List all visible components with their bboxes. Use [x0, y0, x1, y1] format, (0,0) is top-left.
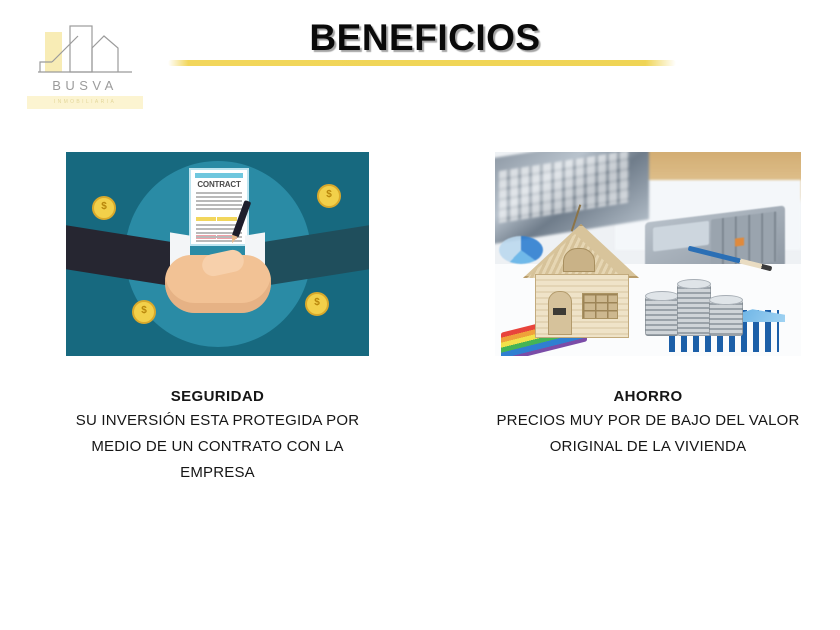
dollar-coin-icon: $	[305, 292, 329, 316]
benefit-description: SU INVERSIÓN ESTA PROTEGIDA POR MEDIO DE…	[66, 408, 369, 486]
benefit-title: SEGURIDAD	[66, 386, 369, 408]
laptop-keyboard	[499, 152, 629, 223]
coin-stack	[677, 284, 711, 336]
page-title: BENEFICIOS	[170, 17, 680, 59]
title-underline-rule	[168, 60, 676, 66]
house-model-coins-photo	[495, 152, 801, 356]
wooden-house-model-icon	[529, 224, 633, 336]
coin-stack	[645, 296, 679, 336]
slide-beneficios: { "brand": { "name": "BUSVA", "tagline":…	[0, 0, 840, 630]
document-title: CONTRACT	[191, 180, 247, 189]
benefit-caption: AHORRO PRECIOS MUY POR DE BAJO DEL VALOR…	[495, 386, 801, 460]
contract-document-icon: CONTRACT	[189, 168, 249, 246]
benefit-card-ahorro: AHORRO PRECIOS MUY POR DE BAJO DEL VALOR…	[495, 152, 801, 460]
calculator-screen	[653, 221, 709, 252]
dollar-coin-icon: $	[132, 300, 156, 324]
house-door	[548, 291, 572, 335]
coin-stacks-icon	[645, 274, 749, 336]
logo-wordmark: BUSVA	[24, 78, 146, 93]
house-body	[535, 274, 629, 338]
brand-logo: BUSVA INMOBILIARIA	[24, 22, 146, 110]
house-attic-window	[563, 248, 595, 272]
logo-tagline: INMOBILIARIA	[24, 96, 146, 109]
coin-stack	[709, 300, 743, 336]
document-text-lines	[196, 192, 242, 212]
building-outline-icon	[38, 22, 132, 78]
house-window	[582, 293, 618, 319]
handshake-contract-illustration: CONTRACT $ $ $ $	[66, 152, 369, 356]
dollar-coin-icon: $	[317, 184, 341, 208]
benefit-card-seguridad: CONTRACT $ $ $ $ SEGURIDAD SU INVERSIÓN …	[66, 152, 369, 486]
dollar-coin-icon: $	[92, 196, 116, 220]
document-header-bar	[195, 173, 243, 178]
desk-scene	[495, 152, 801, 356]
benefit-title: AHORRO	[495, 386, 801, 408]
benefit-caption: SEGURIDAD SU INVERSIÓN ESTA PROTEGIDA PO…	[66, 386, 369, 486]
benefit-description: PRECIOS MUY POR DE BAJO DEL VALOR ORIGIN…	[495, 408, 801, 460]
